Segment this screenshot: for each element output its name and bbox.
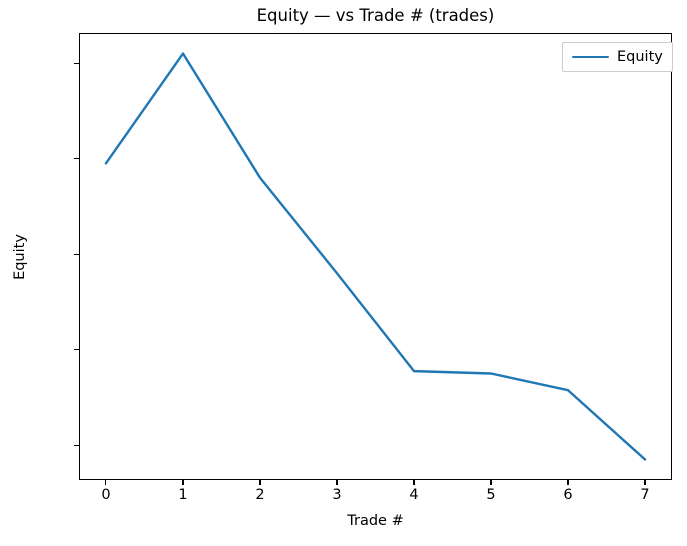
x-tick-label: 4 [409, 487, 418, 503]
y-tick-mark [74, 349, 79, 350]
x-tick-label: 5 [486, 487, 495, 503]
chart-title: Equity — vs Trade # (trades) [79, 6, 672, 25]
x-tick-mark [567, 480, 568, 485]
x-tick-label: 6 [563, 487, 572, 503]
chart-legend: Equity [562, 42, 673, 72]
x-tick-label: 0 [101, 487, 110, 503]
matplotlib-figure: Equity — vs Trade # (trades) Equity 1881… [0, 0, 687, 546]
axes-frame [79, 33, 672, 480]
x-tick-mark [336, 480, 337, 485]
x-tick-mark [490, 480, 491, 485]
x-tick-label: 3 [332, 487, 341, 503]
y-tick-mark [74, 445, 79, 446]
x-tick-label: 7 [640, 487, 649, 503]
legend-line-swatch [572, 56, 609, 58]
x-tick-mark [259, 480, 260, 485]
y-axis-label: Equity [12, 234, 28, 280]
x-tick-label: 2 [255, 487, 264, 503]
y-tick-mark [74, 158, 79, 159]
x-axis-label: Trade # [79, 513, 672, 529]
y-tick-mark [74, 254, 79, 255]
y-axis-label-container: Equity [10, 33, 30, 480]
x-tick-label: 1 [178, 487, 187, 503]
x-tick-mark [105, 480, 106, 485]
y-tick-mark [74, 63, 79, 64]
x-tick-mark [182, 480, 183, 485]
x-tick-mark [413, 480, 414, 485]
x-tick-mark [644, 480, 645, 485]
legend-label-equity: Equity [617, 49, 663, 65]
